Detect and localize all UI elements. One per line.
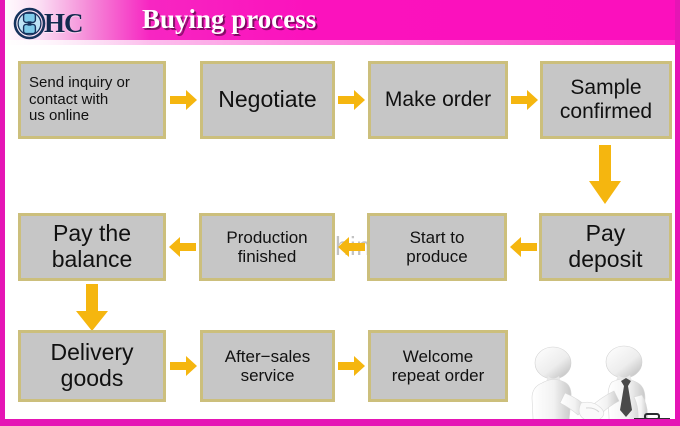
brand-logo: HC: [13, 5, 133, 41]
arrow-right-step3-step4: [511, 89, 539, 111]
flow-step-welcome-repeat-order: Welcome repeat order: [368, 330, 508, 402]
flow-step-label: Production finished: [202, 228, 332, 266]
arrow-down-step4-step5: [588, 145, 622, 205]
flow-step-negotiate: Negotiate: [200, 61, 335, 139]
flow-step-label: Start to produce: [370, 228, 504, 266]
flow-step-pay-deposit: Pay deposit: [539, 213, 672, 281]
arrow-right-step1-step2: [170, 89, 198, 111]
flow-step-sample-confirmed: Sample confirmed: [540, 61, 672, 139]
brand-name: HC: [44, 10, 83, 37]
flow-step-send-inquiry: Send inquiry or contact with us online: [18, 61, 166, 139]
flow-step-label: Make order: [371, 88, 505, 112]
flow-step-make-order: Make order: [368, 61, 508, 139]
arrow-left-step7-step8: [168, 236, 196, 258]
flow-step-pay-the-balance: Pay the balance: [18, 213, 166, 281]
flow-step-start-to-produce: Start to produce: [367, 213, 507, 281]
flow-step-production-finished: Production finished: [199, 213, 335, 281]
flow-step-label: Welcome repeat order: [371, 347, 505, 385]
page-title: Buying process: [142, 4, 316, 35]
flow-step-label: After−sales service: [203, 347, 332, 385]
arrow-right-step10-step11: [338, 355, 366, 377]
flow-step-label: Negotiate: [203, 87, 332, 113]
flow-step-label: Delivery goods: [21, 340, 163, 392]
arrow-down-step8-step9: [75, 284, 109, 332]
handshake-figures-illustration: [508, 345, 673, 426]
flow-step-label: Send inquiry or contact with us online: [21, 75, 163, 125]
hc-circle-logo-icon: [13, 7, 46, 40]
flow-step-after-sales-service: After−sales service: [200, 330, 335, 402]
flow-step-label: Sample confirmed: [543, 76, 669, 123]
buying-process-banner: HC Buying process trade.china.cn Send in…: [0, 0, 680, 426]
flow-step-label: Pay deposit: [542, 221, 669, 273]
arrow-right-step2-step3: [338, 89, 366, 111]
arrow-right-step9-step10: [170, 355, 198, 377]
flow-diagram: trade.china.cn Send inquiry or contact w…: [0, 45, 680, 419]
arrow-left-step6-step7: [337, 236, 365, 258]
arrow-left-step5-step6: [509, 236, 537, 258]
flow-step-label: Pay the balance: [21, 221, 163, 273]
header-bar: HC Buying process: [0, 0, 680, 45]
flow-step-delivery-goods: Delivery goods: [18, 330, 166, 402]
